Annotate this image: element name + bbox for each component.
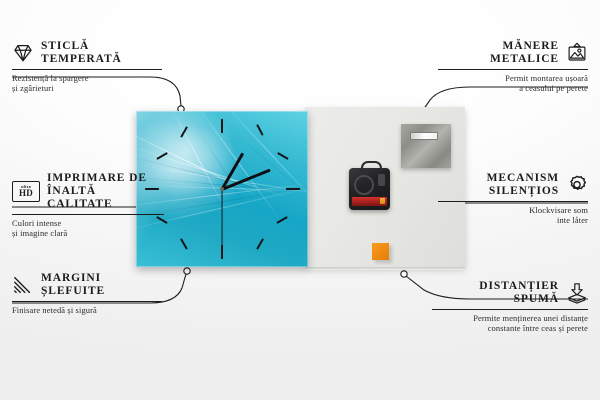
- callout-subtitle: Culori intense și imagine clară: [12, 219, 164, 240]
- callout-foam-spacer: DISTANȚIER SPUMĂ Permite menținerea unei…: [432, 280, 588, 335]
- callout-title: STICLĂ TEMPERATĂ: [41, 40, 122, 66]
- callout-subtitle: Rezistență la spargere și zgârieturi: [12, 74, 162, 95]
- callout-subtitle: Klockvisare som inte låter: [438, 206, 588, 227]
- hanger-slot: [410, 132, 438, 140]
- callout-title: DISTANȚIER SPUMĂ: [479, 280, 559, 306]
- foam-spacer: [372, 243, 389, 260]
- callout-silent-mechanism: MECANISM SILENȚIOS Klockvisare som inte …: [438, 172, 588, 227]
- callout-high-quality-print: ultra HD IMPRIMARE DE ÎNALTĂ CALITATE Cu…: [12, 172, 164, 240]
- callout-divider: [12, 69, 162, 70]
- callout-tempered-glass: STICLĂ TEMPERATĂ Rezistență la spargere …: [12, 40, 162, 95]
- infographic-canvas: STICLĂ TEMPERATĂ Rezistență la spargere …: [0, 0, 600, 400]
- callout-divider: [12, 301, 162, 302]
- leader-dot-foam-spacer: [401, 271, 407, 277]
- battery: [352, 197, 387, 206]
- callout-divider: [432, 309, 588, 310]
- callout-subtitle: Finisare netedă și sigură: [12, 306, 162, 316]
- mechanism-knob: [378, 174, 385, 186]
- callout-title: MARGINI ȘLEFUITE: [41, 272, 105, 298]
- callout-metal-handles: MĂNERE METALICE Permit montarea ușoară a…: [438, 40, 588, 95]
- mechanism-dial: [354, 175, 374, 195]
- diamond-icon: [12, 42, 34, 64]
- callout-subtitle: Permite menținerea unei distanțe constan…: [432, 314, 588, 335]
- metal-hanger: [401, 124, 451, 168]
- callout-divider: [438, 201, 588, 202]
- mechanism-handle: [361, 161, 382, 172]
- ultra-hd-icon: ultra HD: [12, 181, 40, 202]
- diagonal-lines-icon: [12, 274, 34, 296]
- clock-mechanism: [349, 168, 390, 210]
- hanging-frame-icon: [566, 42, 588, 64]
- press-down-arrow-icon: [566, 282, 588, 304]
- callout-title: MĂNERE METALICE: [490, 40, 559, 66]
- product-image: [136, 107, 465, 271]
- callout-title: MECANISM SILENȚIOS: [487, 172, 559, 198]
- callout-divider: [12, 214, 164, 215]
- callout-subtitle: Permit montarea ușoară a ceasului pe per…: [438, 74, 588, 95]
- callout-title: IMPRIMARE DE ÎNALTĂ CALITATE: [47, 172, 164, 211]
- callout-polished-edges: MARGINI ȘLEFUITE Finisare netedă și sigu…: [12, 272, 162, 316]
- gear-icon: [566, 174, 588, 196]
- callout-divider: [438, 69, 588, 70]
